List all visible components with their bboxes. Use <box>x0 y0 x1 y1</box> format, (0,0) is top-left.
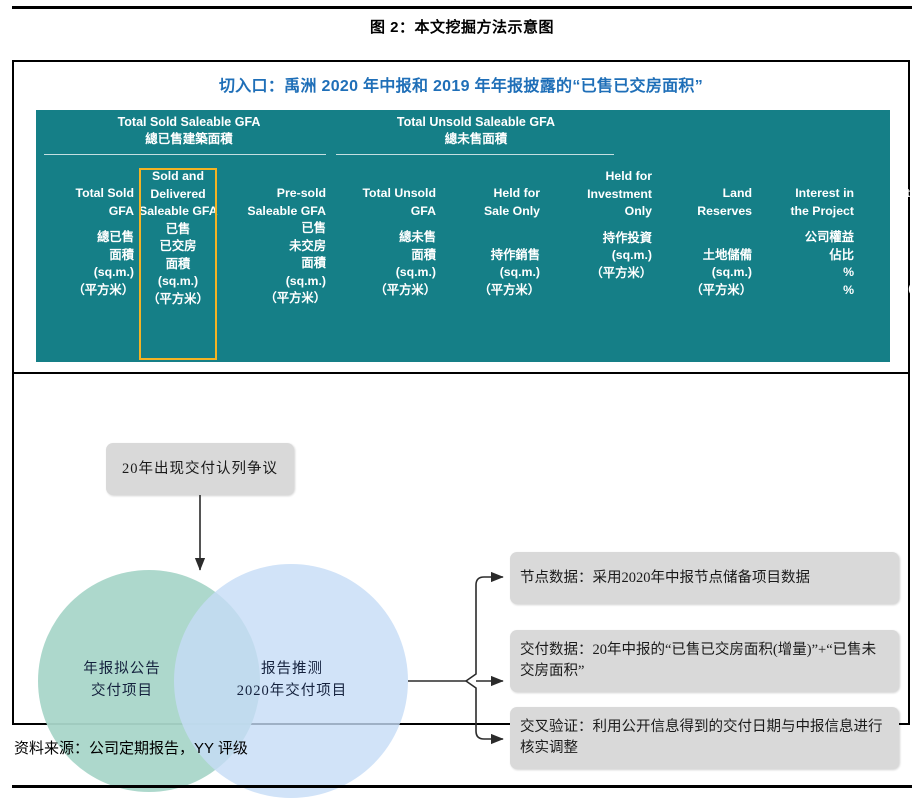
bottom-divider <box>12 785 912 788</box>
column-held-for-sale-only: Held for Sale Only 持作銷售 (sq.m.) （平方米） <box>444 185 540 299</box>
col-unit-en: (sq.m.) <box>336 264 436 282</box>
col-zh-1: 已售 <box>222 220 326 238</box>
col-en-2: Saleable GFA <box>222 203 326 221</box>
group-header-total-sold: Total Sold Saleable GFA 總已售建築面積 <box>44 114 334 148</box>
gfa-table: Total Sold Saleable GFA 總已售建築面積 Total Un… <box>36 110 890 362</box>
source-note: 资料来源：公司定期报告，YY 评级 <box>14 737 248 758</box>
column-held-for-investment-only: Held for Investment Only 持作投資 (sq.m.) （平… <box>548 168 652 282</box>
col-zh-3: 面積 <box>139 256 217 274</box>
col-unit-zh: （平方米） <box>860 282 924 300</box>
column-total-unsold-gfa: Total Unsold GFA 總未售 面積 (sq.m.) （平方米） <box>336 185 436 299</box>
column-total-sold-gfa: Total Sold GFA 總已售 面積 (sq.m.) （平方米） <box>44 185 134 299</box>
col-en-1: Held for <box>444 185 540 203</box>
col-unit-zh: （平方米） <box>139 291 217 309</box>
column-pre-sold: Pre-sold Saleable GFA 已售 未交房 面積 (sq.m.) … <box>222 185 326 308</box>
group-rule-left <box>44 154 326 155</box>
col-unit-en: (sq.m.) <box>444 264 540 282</box>
col-zh-pad <box>444 229 540 247</box>
col-zh-2: 面積 <box>44 247 134 265</box>
col-unit-en: (sq.m.) <box>656 264 752 282</box>
col-unit-zh: % <box>758 282 854 300</box>
col-unit-zh: （平方米） <box>44 282 134 300</box>
col-zh-2: 已交房 <box>139 238 217 256</box>
col-zh-1: 持作投資 <box>548 230 652 248</box>
column-sold-and-delivered: Sold and Delivered Saleable GFA 已售 已交房 面… <box>139 168 217 308</box>
outcome-box-delivery-data: 交付数据：20年中报的“已售已交房面积(增量)”+“已售未交房面积” <box>510 630 899 692</box>
col-en-1: Interest in <box>758 185 854 203</box>
group-rule-right <box>336 154 614 155</box>
col-zh-3: 面積 <box>222 255 326 273</box>
outcome-box-node-data: 节点数据：采用2020年中报节点储备项目数据 <box>510 552 899 604</box>
col-en-2: Reserves <box>656 203 752 221</box>
group-header-en: Total Unsold Saleable GFA <box>336 114 616 131</box>
col-zh-pad <box>656 229 752 247</box>
figure-frame: 切入口：禹洲 2020 年中报和 2019 年年报披露的“已售已交房面积” To… <box>12 60 910 725</box>
col-en-1: Total Unsold <box>336 185 436 203</box>
group-header-zh: 總已售建築面積 <box>44 131 334 148</box>
col-zh-1: 土地儲備 <box>656 247 752 265</box>
col-en-2: GFA <box>44 203 134 221</box>
top-divider <box>12 6 912 9</box>
method-diagram: 20年出现交付认列争议 年报拟公告 交付项目 报告推测 2020年交付项目 <box>14 374 908 723</box>
column-land-reserves: Land Reserves 土地儲備 (sq.m.) （平方米） <box>656 185 752 299</box>
col-en-2: Investment <box>548 186 652 204</box>
col-zh-1: 總未售 <box>336 229 436 247</box>
col-en-2: Sale Only <box>444 203 540 221</box>
col-unit-zh: （平方米） <box>336 282 436 300</box>
col-zh-1: 持作銷售 <box>444 247 540 265</box>
col-unit-zh: （平方米） <box>656 282 752 300</box>
col-zh-1: 應屬 <box>860 229 924 247</box>
col-en-1: Sold and <box>139 168 217 186</box>
col-zh-1: 公司權益 <box>758 229 854 247</box>
col-en-3: Only <box>548 203 652 221</box>
group-header-zh: 總未售面積 <box>336 131 616 148</box>
col-unit-zh: （平方米） <box>444 282 540 300</box>
page-title: 图 2：本文挖掘方法示意图 <box>0 16 924 37</box>
col-en-2: the Project <box>758 203 854 221</box>
col-zh-2: 佔比 <box>758 247 854 265</box>
col-zh-2: 未交房 <box>222 238 326 256</box>
col-en-1: Attributable <box>860 185 924 203</box>
col-en-1: Land <box>656 185 752 203</box>
column-attributable-gfa: Attributable GFA 應屬 建築面積 (sq.m.) （平方米） <box>860 185 924 299</box>
branch-bottom <box>466 681 503 739</box>
outcome-box-cross-validation: 交叉验证：利用公开信息得到的交付日期与中报信息进行核实调整 <box>510 707 899 769</box>
col-zh-2: 面積 <box>336 247 436 265</box>
col-en-2: GFA <box>336 203 436 221</box>
col-unit-en: (sq.m.) <box>222 273 326 291</box>
col-unit-en: (sq.m.) <box>139 273 217 291</box>
col-unit-en: (sq.m.) <box>548 247 652 265</box>
col-en-2: Delivered <box>139 186 217 204</box>
branch-top <box>466 577 503 681</box>
col-zh-2: 建築面積 <box>860 247 924 265</box>
col-en-1: Total Sold <box>44 185 134 203</box>
col-en-1: Pre-sold <box>222 185 326 203</box>
col-en-2: GFA <box>860 203 924 221</box>
col-unit-en: (sq.m.) <box>44 264 134 282</box>
column-interest-in-the-project: Interest in the Project 公司權益 佔比 % % <box>758 185 854 299</box>
col-zh-1: 總已售 <box>44 229 134 247</box>
col-unit-zh: （平方米） <box>222 290 326 308</box>
group-header-en: Total Sold Saleable GFA <box>44 114 334 131</box>
col-unit-zh: （平方米） <box>548 265 652 283</box>
col-en-1: Held for <box>548 168 652 186</box>
group-header-total-unsold: Total Unsold Saleable GFA 總未售面積 <box>336 114 616 148</box>
col-zh-1: 已售 <box>139 221 217 239</box>
banner-title: 切入口：禹洲 2020 年中报和 2019 年年报披露的“已售已交房面积” <box>14 72 908 96</box>
col-unit-en: (sq.m.) <box>860 264 924 282</box>
col-unit-en: % <box>758 264 854 282</box>
col-en-3: Saleable GFA <box>139 203 217 221</box>
